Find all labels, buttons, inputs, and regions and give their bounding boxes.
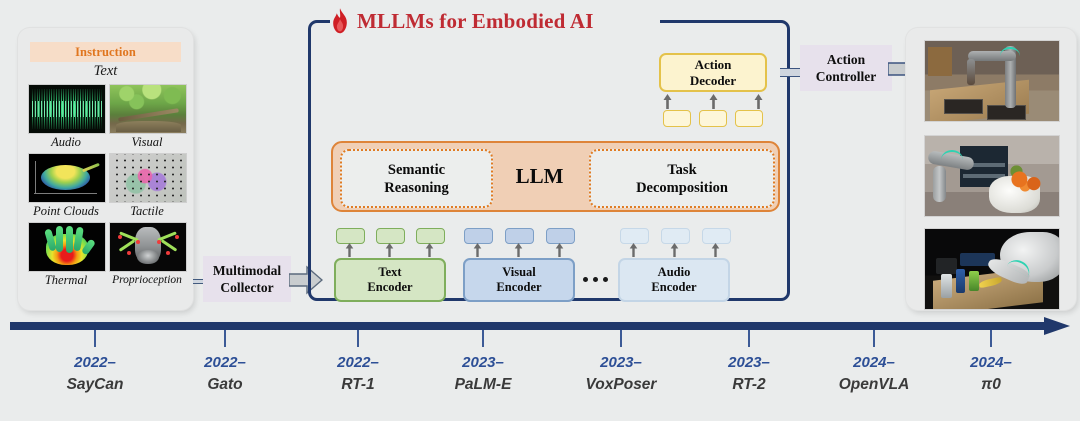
action-decoder-input-arrows (663, 94, 763, 109)
task-decomposition-box: Task Decomposition (589, 149, 775, 208)
audio-token (702, 228, 731, 244)
task-decomposition-line1: Task (667, 161, 696, 179)
timeline-tick (990, 330, 992, 347)
timeline-entry-year: 2024– (931, 352, 1051, 374)
timeline-entry-year: 2024– (814, 352, 934, 374)
robot-arm-desk-objects-photo (924, 228, 1060, 310)
audio-token (661, 228, 690, 244)
action-token (663, 110, 691, 127)
flame-icon (330, 8, 350, 34)
visual-token (546, 228, 575, 244)
timeline-tick (873, 330, 875, 347)
task-decomposition-line2: Decomposition (636, 179, 728, 197)
forest-photo-thumbnail (109, 84, 187, 134)
text-token (416, 228, 445, 244)
timeline-entry-name: π0 (931, 374, 1051, 396)
figure-canvas: Instruction Text Audio Visual (0, 0, 1080, 421)
visual-encoder-line1: Visual (502, 265, 536, 280)
timeline-entry: 2022–SayCan (35, 352, 155, 396)
robot-arm-kitchen-table-photo (924, 40, 1060, 122)
timeline-entry-name: Gato (165, 374, 285, 396)
up-arrow-icon (663, 94, 672, 109)
timeline-axis (10, 322, 1052, 330)
up-arrow-icon (514, 243, 523, 257)
action-decoder-label-line1: Action (695, 57, 732, 73)
action-decoder-box: Action Decoder (659, 53, 767, 92)
robot-arm-fridge-grocery-photo (924, 135, 1060, 217)
modality-row: Thermal Proprioception (28, 222, 185, 289)
timeline-tick (357, 330, 359, 347)
timeline-tick (224, 330, 226, 347)
modality-caption: Proprioception (109, 272, 185, 289)
timeline-entry-year: 2023– (689, 352, 809, 374)
up-arrow-icon (670, 243, 679, 257)
collector-label-line2: Collector (220, 279, 273, 296)
visual-token (464, 228, 493, 244)
timeline-entry-year: 2023– (561, 352, 681, 374)
llm-center-label: LLM (492, 149, 587, 204)
text-encoder-box: Text Encoder (334, 258, 446, 302)
modality-item-proprioception: Proprioception (109, 222, 185, 289)
modality-row: Audio Visual (28, 84, 185, 151)
visual-encoder-line2: Encoder (496, 280, 541, 295)
timeline-entry-name: PaLM-E (423, 374, 543, 396)
timeline-tick (620, 330, 622, 347)
up-arrow-icon (385, 243, 394, 257)
timeline-entry: 2022–Gato (165, 352, 285, 396)
timeline-entry: 2022–RT-1 (298, 352, 418, 396)
action-controller-box: Action Controller (800, 45, 892, 91)
action-token-row (663, 110, 763, 127)
multimodal-collector-box: Multimodal Collector (203, 256, 291, 302)
modality-caption: Point Clouds (28, 203, 104, 220)
timeline-entry: 2023–RT-2 (689, 352, 809, 396)
timeline-entry-name: RT-2 (689, 374, 809, 396)
timeline-tick (94, 330, 96, 347)
audio-encoder-line1: Audio (658, 265, 691, 280)
instruction-text-modality-label: Text (30, 62, 181, 81)
timeline-entry: 2024–π0 (931, 352, 1051, 396)
up-arrow-icon (711, 243, 720, 257)
audio-encoder-box: Audio Encoder (618, 258, 730, 302)
up-arrow-icon (555, 243, 564, 257)
action-decoder-label-line2: Decoder (690, 73, 736, 89)
modality-caption: Tactile (109, 203, 185, 220)
timeline-entry-name: RT-1 (298, 374, 418, 396)
action-controller-line1: Action (827, 51, 865, 68)
audio-waveform-thumbnail (28, 84, 106, 134)
text-encoder-line1: Text (378, 265, 401, 280)
action-token (699, 110, 727, 127)
up-arrow-icon (709, 94, 718, 109)
timeline-entry-year: 2022– (298, 352, 418, 374)
action-token (735, 110, 763, 127)
modality-caption: Thermal (28, 272, 104, 289)
modality-grid: Audio Visual Point Clouds Tactile (28, 84, 185, 291)
thermal-hand-thumbnail (28, 222, 106, 272)
timeline-entry: 2023–VoxPoser (561, 352, 681, 396)
timeline-entry-year: 2022– (35, 352, 155, 374)
collector-label-line1: Multimodal (213, 262, 281, 279)
tactile-sensor-grid-thumbnail (109, 153, 187, 203)
audio-token (620, 228, 649, 244)
skeleton-pose-thumbnail (109, 222, 187, 272)
timeline-entry-year: 2023– (423, 352, 543, 374)
text-token (376, 228, 405, 244)
modality-item-point-clouds: Point Clouds (28, 153, 104, 220)
visual-token (505, 228, 534, 244)
text-encoder-line2: Encoder (367, 280, 412, 295)
timeline-tick (748, 330, 750, 347)
action-controller-line2: Controller (816, 68, 877, 85)
text-token (336, 228, 365, 244)
up-arrow-icon (473, 243, 482, 257)
modality-caption: Visual (109, 134, 185, 151)
action-controller-connector (780, 68, 802, 77)
modality-item-thermal: Thermal (28, 222, 104, 289)
up-arrow-icon (425, 243, 434, 257)
timeline-entry-name: VoxPoser (561, 374, 681, 396)
semantic-reasoning-line1: Semantic (388, 161, 445, 179)
mllm-title: MLLMs for Embodied AI (330, 6, 660, 36)
timeline-tick (482, 330, 484, 347)
encoder-ellipsis (574, 272, 616, 286)
audio-encoder-line2: Encoder (651, 280, 696, 295)
up-arrow-icon (629, 243, 638, 257)
modality-item-tactile: Tactile (109, 153, 185, 220)
timeline-entry: 2024–OpenVLA (814, 352, 934, 396)
timeline-arrowhead-icon (1044, 313, 1070, 339)
modality-item-audio: Audio (28, 84, 104, 151)
up-arrow-icon (754, 94, 763, 109)
semantic-reasoning-line2: Reasoning (384, 179, 448, 197)
timeline-entry-year: 2022– (165, 352, 285, 374)
modality-row: Point Clouds Tactile (28, 153, 185, 220)
point-cloud-surface-thumbnail (28, 153, 106, 203)
timeline-entry-name: SayCan (35, 374, 155, 396)
instruction-header-label: Instruction (30, 42, 181, 62)
timeline-entry-name: OpenVLA (814, 374, 934, 396)
timeline-entry: 2023–PaLM-E (423, 352, 543, 396)
modality-caption: Audio (28, 134, 104, 151)
semantic-reasoning-box: Semantic Reasoning (340, 149, 493, 208)
up-arrow-icon (345, 243, 354, 257)
visual-encoder-box: Visual Encoder (463, 258, 575, 302)
mllm-title-text: MLLMs for Embodied AI (357, 9, 594, 34)
modality-item-visual: Visual (109, 84, 185, 151)
